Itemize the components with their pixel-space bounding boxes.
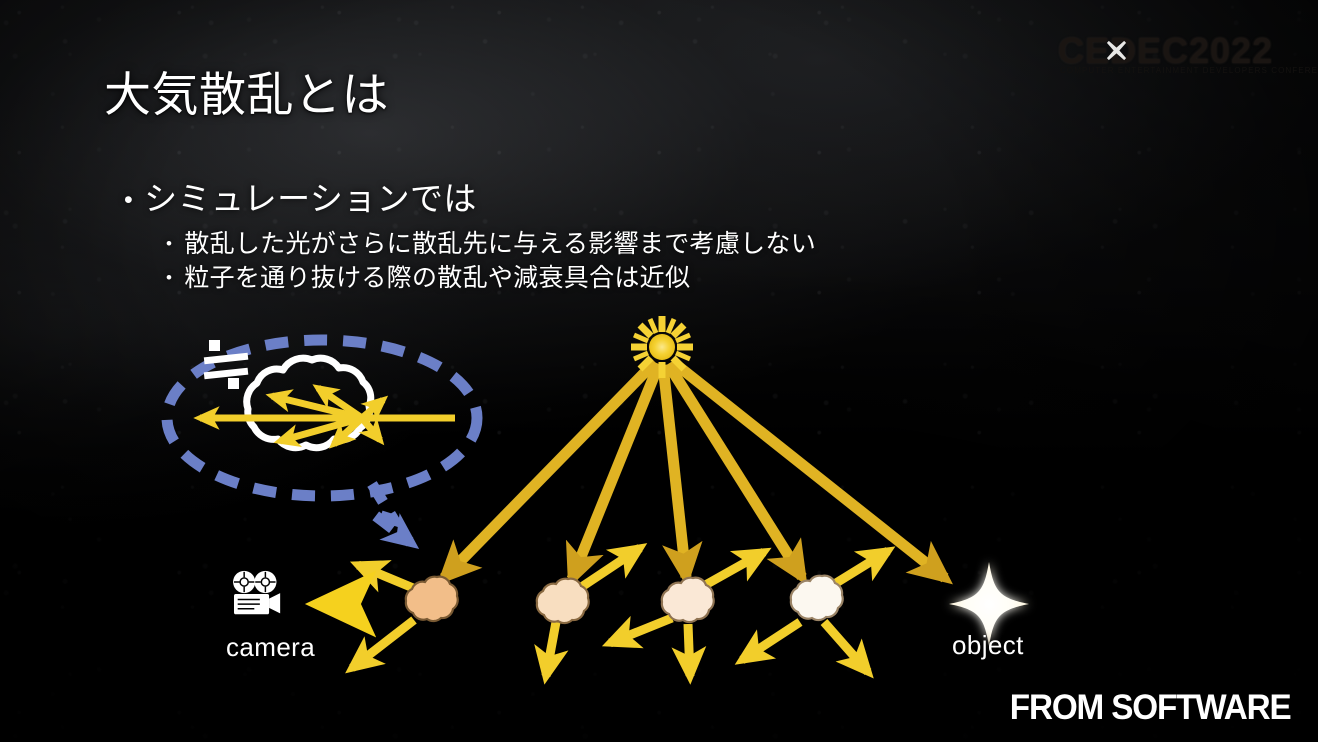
presentation-slide: 大気散乱とは • シミュレーションでは • 散乱した光がさらに散乱先に与える影響… — [0, 0, 1318, 742]
scatter-arrow-4a — [828, 551, 888, 588]
cedec-logo: CEDEC2022 COMPUTER ENTERTAINMENT DEVELOP… — [1058, 28, 1274, 74]
movie-camera-icon — [228, 570, 288, 618]
scatter-arrow-3b — [688, 624, 690, 676]
scatter-arrow-1b — [352, 620, 414, 668]
particle-cluster-2 — [537, 579, 589, 623]
from-software-logo: FROM SOFTWARE — [1009, 688, 1290, 728]
scatter-arrow-4c — [742, 622, 800, 660]
scatter-arrow-2b — [546, 622, 556, 676]
scatter-arrow-3c — [700, 552, 764, 588]
dashed-speech-bubble — [167, 340, 477, 542]
object-label: object — [952, 630, 1024, 661]
particle-cluster-3 — [662, 578, 714, 622]
camera-label: camera — [226, 632, 315, 663]
sun-ray-to-particle-1 — [444, 362, 655, 578]
sun-ray-to-particle-4 — [668, 364, 802, 577]
callout-scatter-arrows — [200, 388, 455, 444]
scatter-arrow-1a — [358, 565, 418, 590]
scatter-arrow-4b — [824, 622, 868, 672]
atmospheric-scattering-diagram — [0, 0, 1318, 742]
scatter-arrow-3a — [610, 618, 672, 643]
sun-ray-to-object — [673, 362, 945, 578]
particle-cluster-4 — [791, 576, 843, 620]
x-mark-icon — [1105, 39, 1128, 62]
sun-rays-group — [444, 362, 945, 579]
cedec-subtitle: COMPUTER ENTERTAINMENT DEVELOPERS CONFER… — [1060, 66, 1318, 75]
sun-burst-icon — [631, 316, 693, 378]
